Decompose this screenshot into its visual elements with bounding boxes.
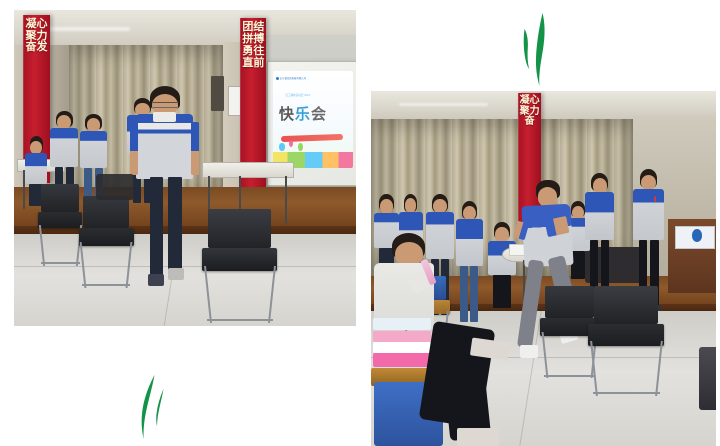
company-logo-icon <box>276 77 279 80</box>
slide-headline-char-1: 快 <box>279 106 295 123</box>
head <box>495 227 508 241</box>
banner-center-text: 凝心聚力 奋 <box>519 96 541 128</box>
shoe-right <box>168 268 184 280</box>
torso <box>80 131 108 168</box>
torso <box>585 192 614 239</box>
badge-icon <box>654 196 656 202</box>
chair-2 <box>588 286 664 396</box>
head <box>380 199 393 213</box>
chair-1-body <box>38 184 82 266</box>
chair-leg-right <box>655 341 663 396</box>
slide-headline-char-2: 乐 <box>295 106 311 123</box>
slide-balloon-2 <box>289 140 294 148</box>
chair-back <box>208 209 271 248</box>
grass-blade-short-icon <box>524 29 529 69</box>
chair-leg-left <box>80 242 87 288</box>
chair-seat <box>79 228 134 246</box>
chair-back <box>41 184 78 212</box>
arm-left <box>130 122 138 175</box>
gift-item-1 <box>373 318 432 330</box>
photo-right-scene: 凝心聚力 奋 <box>371 91 716 446</box>
legs <box>470 266 478 322</box>
chair-rail <box>82 284 130 286</box>
leg-left <box>150 177 164 278</box>
torso <box>456 219 484 266</box>
wall-speaker <box>211 76 225 111</box>
chair-leg-left <box>590 341 598 396</box>
chair-3 <box>202 209 277 323</box>
chair-leg-left <box>204 266 212 323</box>
grass-blade-long-icon <box>536 13 545 86</box>
shoe-front <box>520 345 538 358</box>
photo-right: 凝心聚力 奋 <box>371 91 716 446</box>
grass-ornament-bottom <box>131 373 177 443</box>
gift-item-2 <box>373 331 432 342</box>
slide-balloon-3 <box>298 143 303 151</box>
arm-right <box>191 122 199 175</box>
chair-seat <box>588 324 664 346</box>
slide-subtitle: 员工趣味运动会 2019 <box>285 93 310 97</box>
torso <box>50 128 78 166</box>
photo-left: 山东省某某机械有限公司 员工趣味运动会 2019 快乐会 凝心聚力 奋发 <box>14 10 356 326</box>
standing-person-4 <box>456 201 484 322</box>
head <box>87 118 101 132</box>
chair-seat <box>202 248 277 271</box>
chair-seat <box>38 212 82 228</box>
gift-item-3 <box>373 342 432 353</box>
audience-shoe-1 <box>457 428 498 446</box>
glasses-icon <box>153 102 178 108</box>
chair-leg-left <box>38 225 44 266</box>
banner-right-text: 团结 拼搏 勇往直前 <box>241 22 266 70</box>
chair-2 <box>79 196 134 288</box>
chair-leg-right <box>268 266 276 323</box>
grass-blade-short-icon <box>156 389 163 426</box>
head <box>30 141 41 154</box>
page-canvas: 山东省某某机械有限公司 员工趣味运动会 2019 快乐会 凝心聚力 奋发 <box>0 0 720 446</box>
standing-person-6 <box>585 173 614 304</box>
collar <box>153 112 175 122</box>
slide-balloon-1 <box>279 143 285 152</box>
shoe-left <box>148 274 163 286</box>
table-leg-3 <box>285 176 287 225</box>
torso <box>136 114 193 179</box>
chair-back <box>83 196 129 227</box>
equipment-box-logo <box>692 229 702 241</box>
banner-left-text: 凝心聚力 奋发 <box>24 19 50 55</box>
gift-stack <box>373 318 432 368</box>
projector-slide: 山东省某某机械有限公司 员工趣味运动会 2019 快乐会 <box>273 71 353 167</box>
leg-right <box>168 177 182 274</box>
chair-leg-left <box>541 332 548 378</box>
foreground-person-walking <box>134 86 196 288</box>
chair-rail <box>41 262 80 264</box>
slide-company-line: 山东省某某机械有限公司 <box>276 76 306 80</box>
torso <box>633 189 664 240</box>
floor-bag <box>96 174 134 199</box>
chair-rail <box>207 319 273 321</box>
legs <box>460 266 468 322</box>
cropped-person-right-edge <box>699 347 716 411</box>
grass-ornament-top <box>508 11 554 89</box>
slide-headline: 快乐会 <box>279 103 349 124</box>
chair-back <box>545 286 594 317</box>
head <box>593 178 607 194</box>
torso <box>25 153 47 184</box>
gift-item-4 <box>373 353 432 367</box>
head <box>57 115 71 129</box>
table-top <box>202 162 294 178</box>
chair-leg-right <box>126 242 133 288</box>
chair-back <box>594 286 658 323</box>
chair-rail <box>593 392 660 394</box>
grass-blade-long-icon <box>142 375 155 439</box>
photo-left-scene: 山东省某某机械有限公司 员工趣味运动会 2019 快乐会 凝心聚力 奋发 <box>14 10 356 326</box>
slide-headline-char-3: 会 <box>311 106 327 123</box>
